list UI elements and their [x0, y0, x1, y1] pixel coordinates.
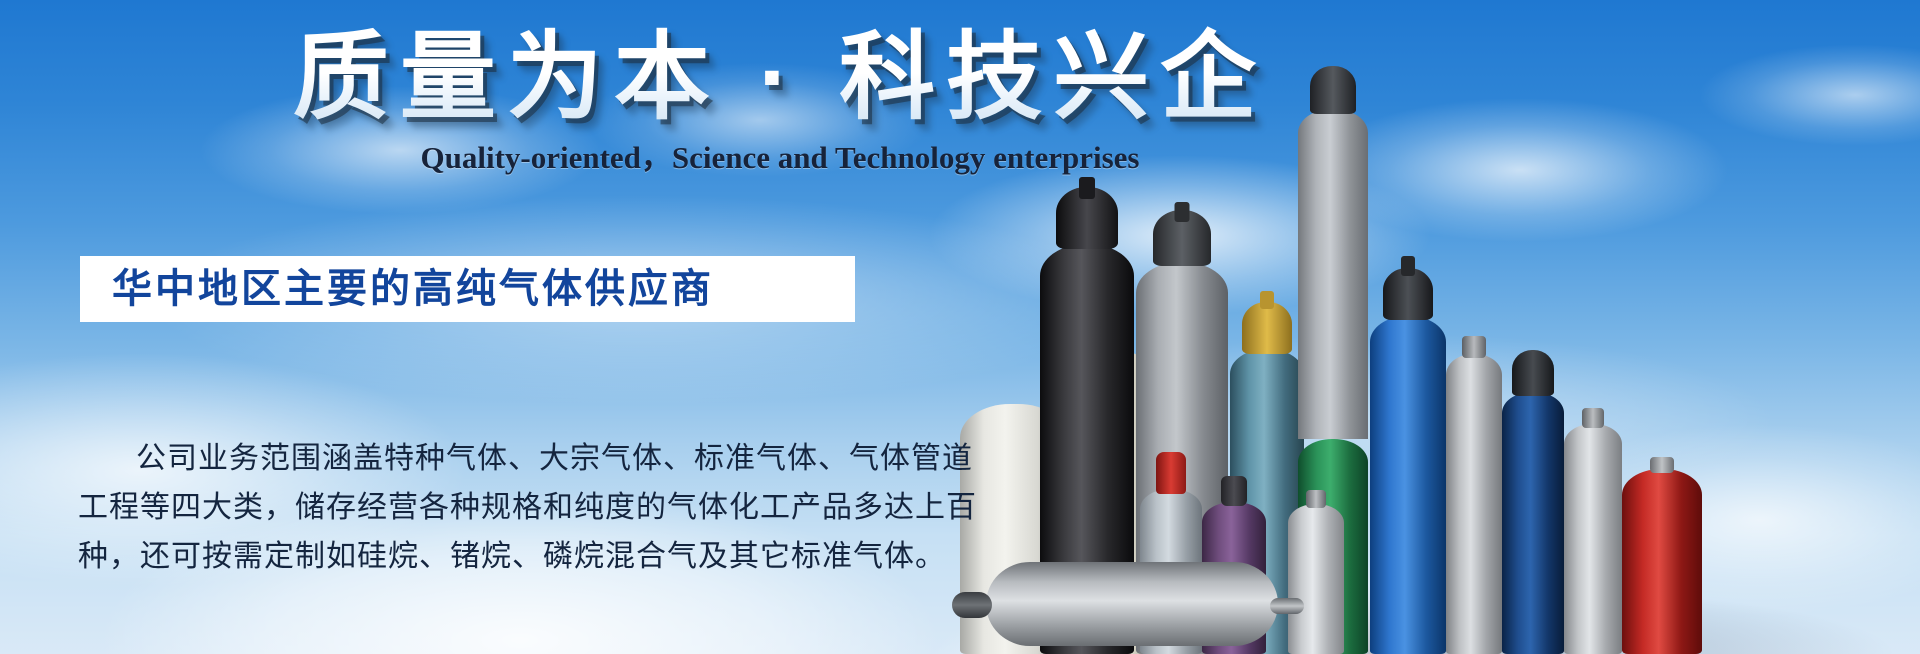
- cap-purple-small: [1221, 476, 1247, 506]
- body-paragraph: 公司业务范围涵盖特种气体、大宗气体、标准气体、气体管道 工程等四大类，储存经营各…: [78, 434, 868, 581]
- collar-aluminium-2: [1582, 408, 1604, 428]
- valve-grey-tall: [1175, 202, 1190, 222]
- body-line-2: 工程等四大类，储存经营各种规格和纯度的气体化工产品多达上百: [78, 483, 868, 532]
- cap-red-valve: [1156, 452, 1186, 494]
- collar-aluminium: [1462, 336, 1486, 358]
- body-line-3: 种，还可按需定制如硅烷、锗烷、磷烷混合气及其它标准气体。: [78, 532, 868, 581]
- tagline-band: 华中地区主要的高纯气体供应商: [80, 256, 855, 322]
- collar-red-round: [1650, 457, 1674, 473]
- cylinder-aluminium-2: [1564, 424, 1622, 654]
- tagline-text: 华中地区主要的高纯气体供应商: [80, 266, 714, 312]
- valve-black-large: [1079, 177, 1095, 199]
- cylinder-red-round: [1622, 469, 1702, 654]
- collar-aluminium-front: [1306, 490, 1326, 508]
- cylinder-dark-blue: [1502, 392, 1564, 654]
- cylinder-silver-lying: [986, 562, 1278, 646]
- cap-dark-blue: [1512, 350, 1554, 396]
- cap-green-cylinder: [1310, 66, 1356, 114]
- valve-blue-tall: [1401, 256, 1415, 276]
- promo-banner: 质量为本 · 科技兴企 Quality-oriented，Science and…: [0, 0, 1920, 654]
- valve-silver-lying: [952, 592, 992, 618]
- cylinder-green-upper: [1298, 109, 1368, 439]
- valve-teal-striped: [1260, 291, 1274, 309]
- cylinder-aluminium: [1446, 354, 1502, 654]
- nozzle-silver-lying: [1270, 598, 1304, 614]
- cap-teal-striped: [1242, 302, 1292, 354]
- cylinder-aluminium-front: [1288, 504, 1344, 654]
- body-line-1: 公司业务范围涵盖特种气体、大宗气体、标准气体、气体管道: [78, 434, 868, 483]
- cylinder-blue-tall: [1370, 316, 1446, 654]
